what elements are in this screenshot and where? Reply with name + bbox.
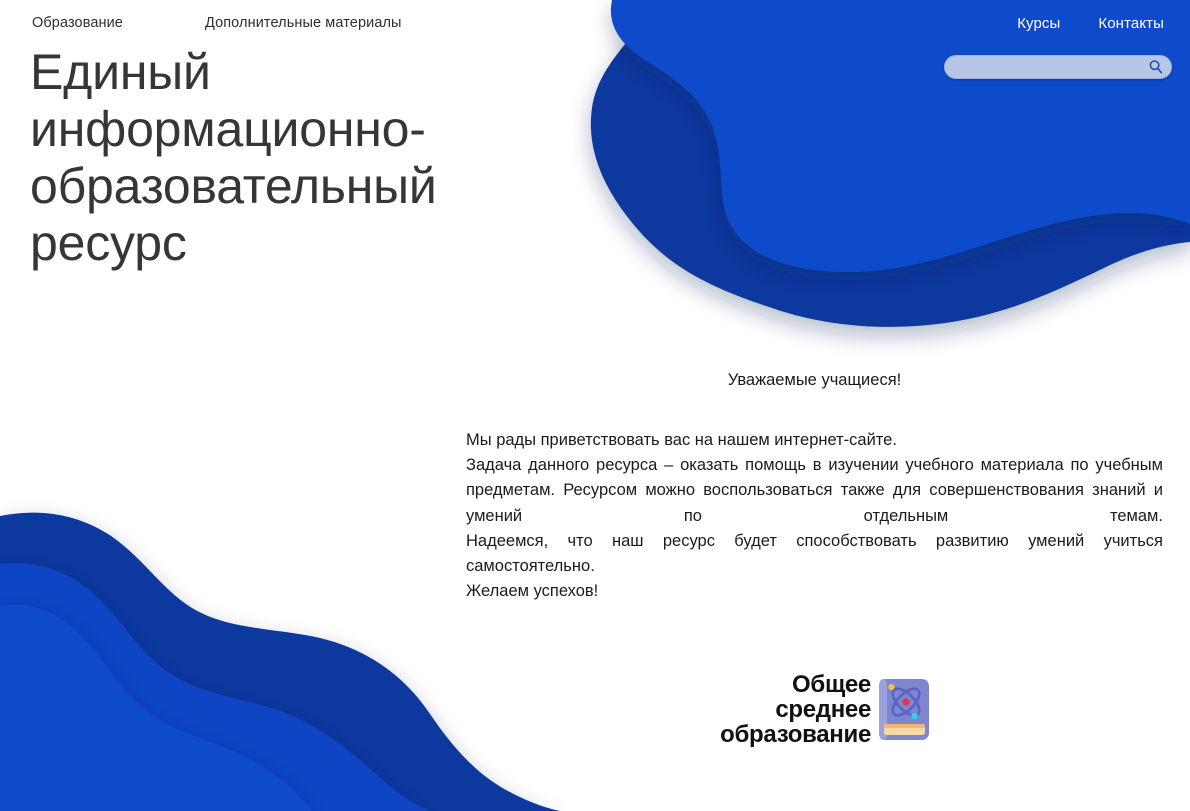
book-atom-icon: [878, 678, 930, 741]
welcome-paragraph: Мы рады приветствовать вас на нашем инте…: [466, 390, 1163, 604]
wave-bottom-mid: [0, 563, 430, 811]
nav-left-group: Образование Дополнительные материалы: [32, 15, 402, 32]
page-title: Единый информационно-образовательный рес…: [30, 44, 590, 272]
nav-link-education[interactable]: Образование: [32, 15, 123, 32]
search-icon[interactable]: [1148, 59, 1164, 75]
wave-top-dark: [591, 0, 1190, 327]
search-box: [944, 55, 1172, 79]
nav-link-courses[interactable]: Курсы: [1017, 15, 1060, 33]
page-root: Образование Дополнительные материалы Кур…: [0, 0, 1190, 811]
nav-link-contacts[interactable]: Контакты: [1098, 15, 1164, 33]
welcome-line-2: Задача данного ресурса – оказать помощь …: [466, 453, 1163, 529]
logo[interactable]: Общее среднее образование: [660, 672, 930, 747]
welcome-line-1: Мы рады приветствовать вас на нашем инте…: [466, 428, 1163, 453]
welcome-line-4: Желаем успехов!: [466, 579, 1163, 604]
top-navigation: Образование Дополнительные материалы Кур…: [0, 0, 1190, 40]
logo-text-line-3: образование: [720, 722, 871, 747]
wave-top-light: [611, 0, 1190, 272]
logo-text-line-2: среднее: [720, 697, 871, 722]
nav-link-extra-materials[interactable]: Дополнительные материалы: [205, 15, 402, 32]
logo-text-line-1: Общее: [720, 672, 871, 697]
search-input[interactable]: [944, 55, 1172, 79]
greeting-heading: Уважаемые учащиеся!: [466, 370, 1163, 390]
welcome-content: Уважаемые учащиеся! Мы рады приветствова…: [466, 370, 1163, 604]
wave-bottom-light: [0, 604, 312, 811]
nav-right-group: Курсы Контакты: [1017, 15, 1164, 33]
welcome-line-3: Надеемся, что наш ресурс будет способств…: [466, 529, 1163, 579]
logo-text: Общее среднее образование: [720, 672, 871, 747]
